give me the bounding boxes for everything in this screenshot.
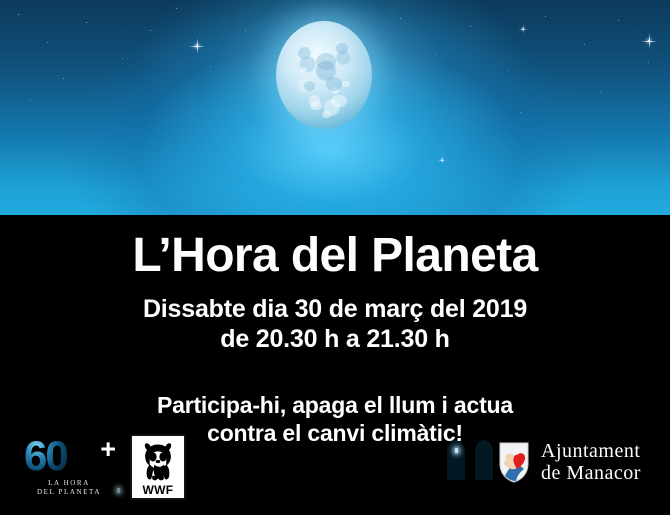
earth-hour-caption-line-1: LA HORA [24,479,114,488]
ajuntament-line-2: de Manacor [541,462,641,484]
page-title: L’Hora del Planeta [0,232,670,280]
earth-hour-poster: L’Hora del Planeta Dissabte dia 30 de ma… [0,0,670,515]
earth-hour-caption-line-2: DEL PLANETA [24,488,114,497]
bright-star-right [648,40,650,42]
wwf-logo: WWF [130,434,186,500]
poster-text: L’Hora del Planeta Dissabte dia 30 de ma… [0,215,670,447]
ajuntament-line-1: Ajuntament [541,440,641,462]
earth-hour-number: 60 [24,432,67,479]
moon-icon [276,21,372,129]
panda-icon [135,439,181,483]
logo-bar: 60+ LA HORA DEL PLANETA [0,430,670,515]
earth-hour-caption: LA HORA DEL PLANETA [24,479,114,497]
manacor-coat-of-arms-icon [498,441,530,483]
date-line-1: Dissabte dia 30 de març del 2019 [0,295,670,325]
bright-star-mid [441,159,442,160]
ajuntament-wordmark: Ajuntament de Manacor [541,440,641,484]
bright-star-left [196,45,198,47]
wwf-wordmark: WWF [135,484,181,497]
call-to-action-line-1: Participa-hi, apaga el llum i actua [0,392,670,420]
ajuntament-logo: Ajuntament de Manacor [498,440,641,484]
earth-hour-logo: 60+ LA HORA DEL PLANETA [24,436,114,502]
date-line-2: de 20.30 h a 21.30 h [0,325,670,355]
night-sky [0,0,670,215]
earth-hour-plus: + [100,434,116,465]
earth-hour-60-mark: 60+ [24,436,114,476]
bright-star-small [522,28,523,29]
